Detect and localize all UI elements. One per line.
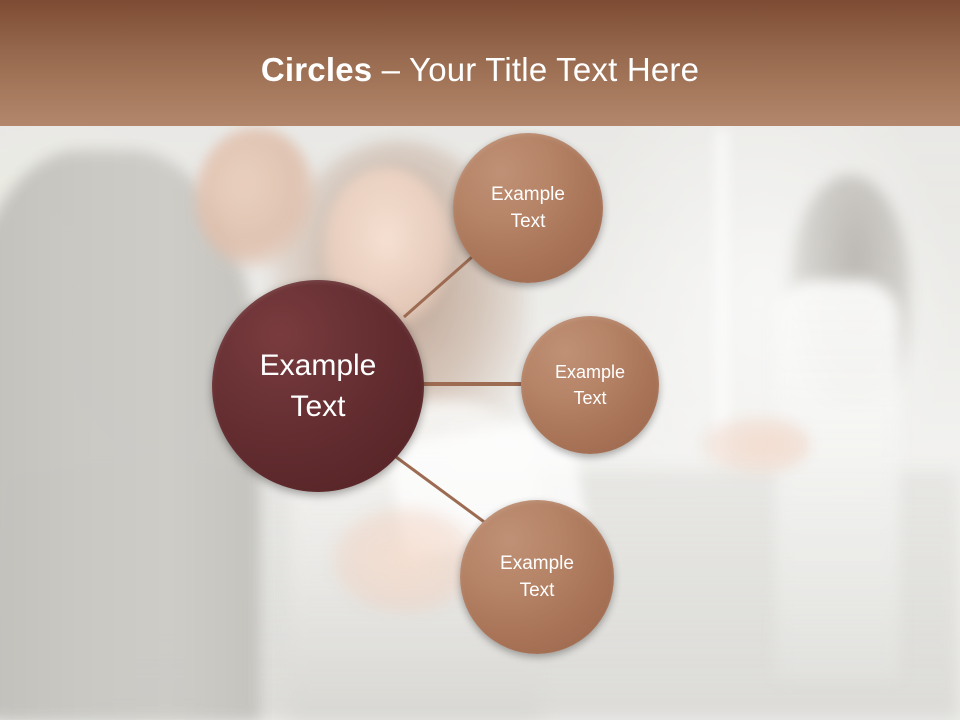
background-person-left-head — [196, 128, 316, 268]
satellite-circle-middle[interactable]: Example Text — [521, 316, 659, 454]
slide-title-separator: – — [372, 51, 409, 88]
slide-title: Circles – Your Title Text Here — [0, 50, 960, 90]
background-window-frame — [715, 130, 729, 460]
slide-title-rest: Your Title Text Here — [409, 51, 699, 88]
satellite-top-label-line1: Example — [491, 181, 565, 208]
satellite-bottom-label-line2: Text — [520, 577, 555, 604]
hub-circle-label-line2: Text — [290, 386, 345, 427]
background-person-right-body — [775, 280, 900, 680]
satellite-middle-label-line1: Example — [555, 359, 625, 385]
hub-circle-label-line1: Example — [260, 345, 377, 386]
title-band: Circles – Your Title Text Here — [0, 0, 960, 126]
satellite-bottom-label-line1: Example — [500, 550, 574, 577]
slide-title-emphasis: Circles — [261, 51, 372, 88]
slide-canvas: Circles – Your Title Text Here Example T… — [0, 0, 960, 720]
background-person-right-arm — [700, 415, 810, 475]
satellite-circle-bottom[interactable]: Example Text — [460, 500, 614, 654]
satellite-top-label-line2: Text — [511, 208, 546, 235]
satellite-circle-top[interactable]: Example Text — [453, 133, 603, 283]
hub-circle[interactable]: Example Text — [212, 280, 424, 492]
background-hands — [330, 505, 480, 615]
satellite-middle-label-line2: Text — [573, 385, 606, 411]
